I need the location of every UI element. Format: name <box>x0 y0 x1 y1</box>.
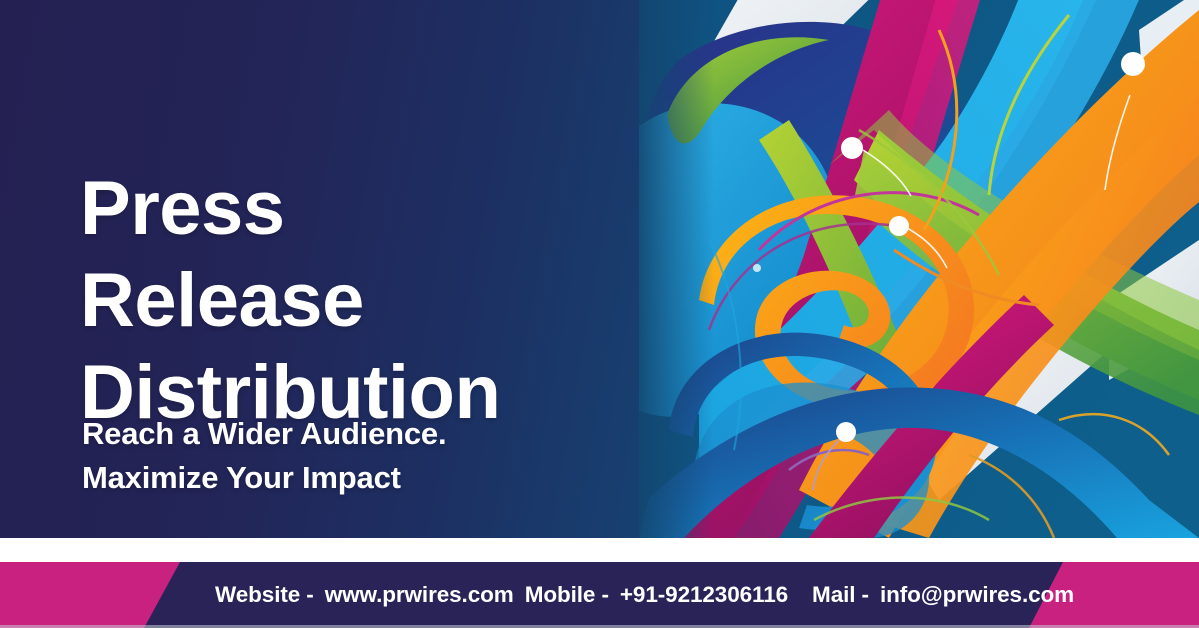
press-release-banner: Press Release Distribution Reach a Wider… <box>0 0 1199 628</box>
mobile-value[interactable]: +91-9212306116 <box>620 582 788 608</box>
website-label: Website - <box>215 582 314 608</box>
subheading-line-1: Reach a Wider Audience. <box>82 412 446 456</box>
mail-value[interactable]: info@prwires.com <box>880 582 1074 608</box>
subheading-line-2: Maximize Your Impact <box>82 456 446 500</box>
subheading: Reach a Wider Audience. Maximize Your Im… <box>82 412 446 500</box>
panel-divider <box>0 538 1199 562</box>
page-title: Press Release Distribution <box>80 163 500 439</box>
footer-accent-shape-left <box>0 562 180 628</box>
contact-info: Website -www.prwires.comMobile -+91-9212… <box>215 562 1074 628</box>
contact-footer-bar: Website -www.prwires.comMobile -+91-9212… <box>0 562 1199 628</box>
headline-line-1: Press <box>80 163 500 255</box>
mail-label: Mail - <box>812 582 869 608</box>
main-panel: Press Release Distribution Reach a Wider… <box>0 0 1199 538</box>
abstract-ribbon-swirl-graphic <box>639 0 1199 538</box>
website-value[interactable]: www.prwires.com <box>325 582 514 608</box>
headline-line-2: Release <box>80 255 500 347</box>
mobile-label: Mobile - <box>525 582 609 608</box>
